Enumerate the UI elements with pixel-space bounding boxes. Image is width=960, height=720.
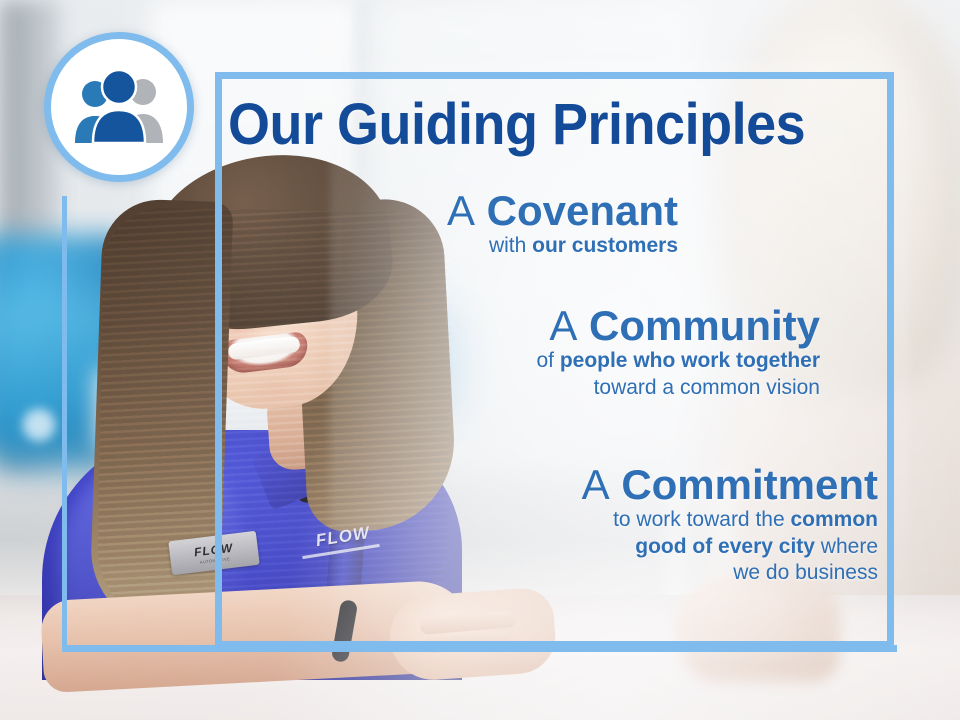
principle-subtext-line: to work toward the common	[398, 507, 878, 534]
principle-block-community: A Community of people who work together …	[328, 304, 820, 401]
principle-article: A	[447, 187, 475, 234]
principle-article: A	[549, 302, 577, 349]
principle-keyword: Community	[589, 302, 820, 349]
principle-block-commitment: A Commitment to work toward the common g…	[398, 463, 878, 587]
principle-subtext-line: of people who work together	[328, 348, 820, 375]
principle-headline: A Covenant	[258, 189, 678, 233]
principle-headline: A Commitment	[398, 463, 878, 507]
principle-subtext-line: with our customers	[258, 233, 678, 260]
principle-keyword: Commitment	[621, 461, 878, 508]
people-group-badge	[44, 32, 194, 182]
page-title: Our Guiding Principles	[228, 96, 823, 154]
principle-subtext: with our customers	[258, 233, 678, 260]
decorative-frame-left-extension	[62, 196, 67, 651]
decorative-frame-bottom-extension	[62, 645, 897, 652]
principle-article: A	[582, 461, 610, 508]
principle-headline: A Community	[328, 304, 820, 348]
principle-block-covenant: A Covenant with our customers	[258, 189, 678, 260]
principle-subtext-line: we do business	[398, 560, 878, 587]
principle-subtext: of people who work together toward a com…	[328, 348, 820, 402]
principle-subtext-line: toward a common vision	[328, 375, 820, 402]
banner-graphic: FLOW AUTOMOTIVE FLOW Our Guiding Princip…	[0, 0, 960, 720]
people-group-icon	[67, 69, 171, 145]
principle-subtext: to work toward the common good of every …	[398, 507, 878, 588]
principle-subtext-line: good of every city where	[398, 534, 878, 561]
principle-keyword: Covenant	[487, 187, 678, 234]
